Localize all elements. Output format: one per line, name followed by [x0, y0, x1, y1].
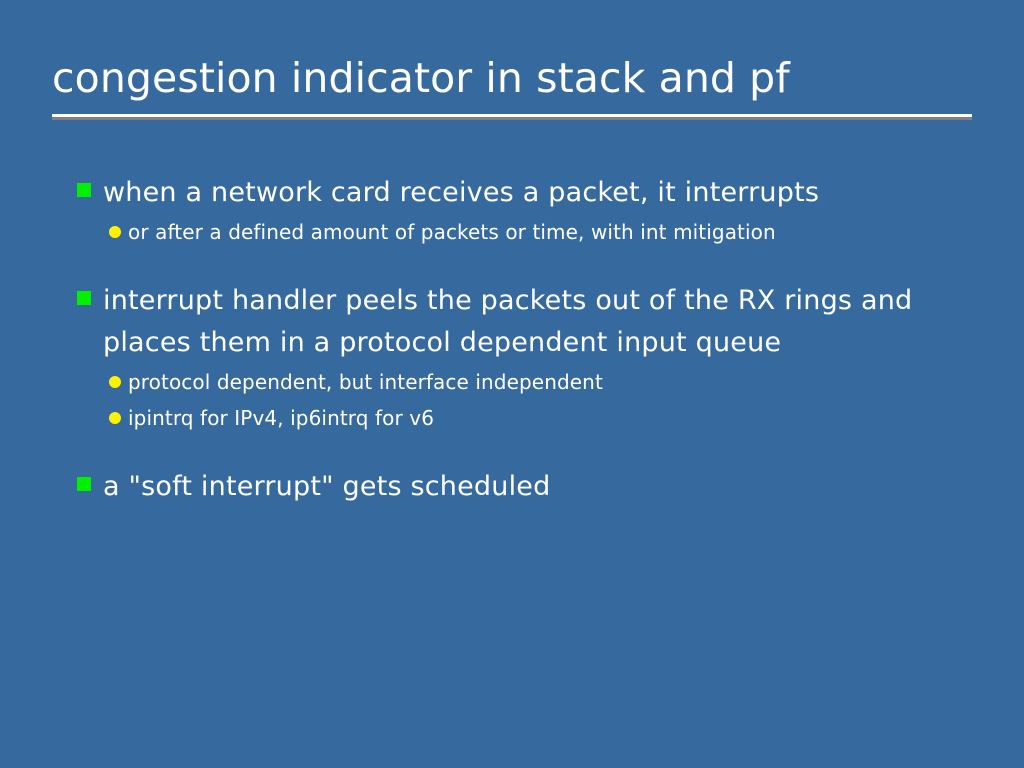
page-title: congestion indicator in stack and pf [52, 52, 972, 104]
square-bullet-icon [77, 477, 91, 491]
dot-bullet-icon [109, 412, 121, 424]
sub-bullet-item: protocol dependent, but interface indepe… [0, 364, 1024, 400]
bullet-group: a "soft interrupt" gets scheduled [0, 466, 1024, 508]
bullet-text: when a network card receives a packet, i… [103, 177, 819, 208]
sub-bullet-item: ipintrq for IPv4, ip6intrq for v6 [0, 400, 1024, 436]
slide-body: when a network card receives a packet, i… [0, 172, 1024, 508]
slide-title-block: congestion indicator in stack and pf [52, 52, 972, 104]
sub-bullet-item: or after a defined amount of packets or … [0, 214, 1024, 250]
bullet-item: a "soft interrupt" gets scheduled [0, 466, 1024, 508]
bullet-item: when a network card receives a packet, i… [0, 172, 1024, 214]
title-underline-rule [52, 114, 972, 120]
bullet-text: interrupt handler peels the packets out … [103, 285, 912, 358]
bullet-group: interrupt handler peels the packets out … [0, 280, 1024, 436]
square-bullet-icon [77, 183, 91, 197]
sub-bullet-text: or after a defined amount of packets or … [128, 220, 776, 244]
bullet-group: when a network card receives a packet, i… [0, 172, 1024, 250]
sub-bullet-text: ipintrq for IPv4, ip6intrq for v6 [128, 406, 434, 430]
dot-bullet-icon [109, 226, 121, 238]
presentation-slide: congestion indicator in stack and pf whe… [0, 0, 1024, 768]
rule-shadow [52, 117, 972, 120]
square-bullet-icon [77, 291, 91, 305]
bullet-item: interrupt handler peels the packets out … [0, 280, 1024, 364]
sub-bullet-text: protocol dependent, but interface indepe… [128, 370, 603, 394]
bullet-text: a "soft interrupt" gets scheduled [103, 471, 550, 502]
dot-bullet-icon [109, 376, 121, 388]
